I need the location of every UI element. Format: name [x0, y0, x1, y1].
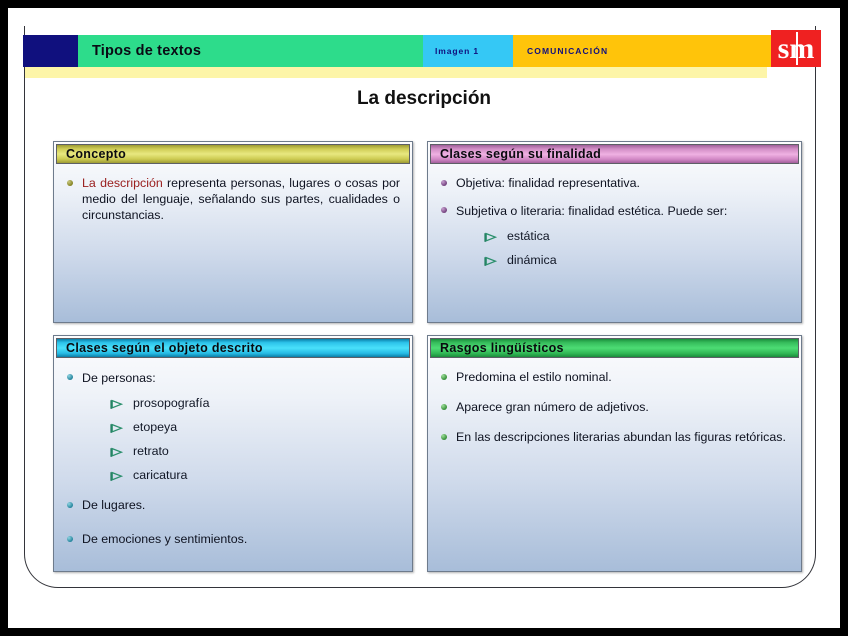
sub-list-item: caricatura — [110, 468, 400, 483]
panel-concepto-body: La descripción representa personas, luga… — [54, 164, 412, 231]
sub-list-item: etopeya — [110, 420, 400, 435]
header-yellow-strip — [25, 67, 767, 78]
bullet-dot-icon — [67, 180, 73, 186]
arrow-flag-icon — [110, 471, 123, 482]
sm-logo-divider — [796, 32, 798, 65]
list-item: Subjetiva o literaria: finalidad estétic… — [438, 202, 789, 270]
panel-clases-finalidad-heading: Clases según su finalidad — [430, 144, 799, 164]
sub-list-item-text: caricatura — [133, 468, 187, 483]
list-item: En las descripciones literarias abundan … — [438, 429, 789, 445]
sub-list-item-text: retrato — [133, 444, 169, 459]
bullet-dot-icon — [441, 180, 447, 186]
panel-clases-finalidad: Clases según su finalidad Objetiva: fina… — [427, 141, 802, 323]
panel-rasgos-body: Predomina el estilo nominal. Aparece gra… — [428, 358, 801, 453]
list-item: Predomina el estilo nominal. — [438, 369, 789, 385]
sub-list-item-text: estática — [507, 229, 550, 244]
list-item-text: En las descripciones literarias abundan … — [456, 429, 789, 445]
bullet-dot-icon — [67, 536, 73, 542]
sub-list-item-text: etopeya — [133, 420, 177, 435]
list-item: Aparece gran número de adjetivos. — [438, 399, 789, 415]
sub-list-item-text: dinámica — [507, 253, 557, 268]
sub-list-item: retrato — [110, 444, 400, 459]
arrow-flag-icon — [110, 399, 123, 410]
bullet-dot-icon — [441, 207, 447, 213]
header-subject-label: COMUNICACIÓN — [513, 35, 771, 67]
bullet-dot-icon — [441, 434, 447, 440]
slide-header-bar: Tipos de textos Imagen 1 COMUNICACIÓN sm — [23, 35, 821, 67]
list-item-text: Subjetiva o literaria: finalidad estétic… — [456, 204, 727, 218]
list-item-text: Predomina el estilo nominal. — [456, 369, 789, 385]
header-section-title: Tipos de textos — [78, 35, 423, 67]
sm-logo: sm — [771, 30, 821, 67]
sub-list: estática dinámica — [484, 229, 789, 268]
panel-clases-finalidad-body: Objetiva: finalidad representativa. Subj… — [428, 164, 801, 278]
header-image-label: Imagen 1 — [423, 35, 513, 67]
list-item: La descripción representa personas, luga… — [64, 175, 400, 223]
header-navy-block — [23, 35, 78, 67]
panel-clases-objeto-heading: Clases según el objeto descrito — [56, 338, 410, 358]
list-item: Objetiva: finalidad representativa. — [438, 175, 789, 191]
list-item-text: De lugares. — [82, 497, 400, 513]
panel-concepto: Concepto La descripción representa perso… — [53, 141, 413, 323]
bullet-dot-icon — [67, 502, 73, 508]
list-item-lead: La descripción — [82, 176, 163, 190]
slide-canvas: Tipos de textos Imagen 1 COMUNICACIÓN sm… — [8, 8, 840, 628]
arrow-flag-icon — [110, 423, 123, 434]
arrow-flag-icon — [484, 232, 497, 243]
arrow-flag-icon — [110, 447, 123, 458]
bullet-dot-icon — [441, 374, 447, 380]
panel-clases-objeto: Clases según el objeto descrito De perso… — [53, 335, 413, 572]
list-item-text: Aparece gran número de adjetivos. — [456, 399, 789, 415]
list-item-text: La descripción representa personas, luga… — [82, 175, 400, 223]
panel-clases-objeto-body: De personas: prosopografía — [54, 358, 412, 555]
list-item: De personas: prosopografía — [64, 369, 400, 485]
image-label-text: Imagen 1 — [435, 46, 479, 56]
sub-list-item: dinámica — [484, 253, 789, 268]
sub-list-item: estática — [484, 229, 789, 244]
panel-rasgos-linguisticos: Rasgos lingüísticos Predomina el estilo … — [427, 335, 802, 572]
sub-list-item-text: prosopografía — [133, 396, 209, 411]
bullet-dot-icon — [441, 404, 447, 410]
list-item-text: De personas: — [82, 371, 156, 385]
panel-rasgos-heading: Rasgos lingüísticos — [430, 338, 799, 358]
page-title: La descripción — [8, 88, 840, 110]
panel-concepto-heading: Concepto — [56, 144, 410, 164]
list-item: De emociones y sentimientos. — [64, 531, 400, 547]
arrow-flag-icon — [484, 256, 497, 267]
sub-list-item: prosopografía — [110, 396, 400, 411]
subject-label-text: COMUNICACIÓN — [527, 46, 608, 56]
list-item: De lugares. — [64, 497, 400, 513]
sub-list: prosopografía etopeya — [110, 396, 400, 483]
bullet-dot-icon — [67, 374, 73, 380]
section-title-text: Tipos de textos — [92, 43, 201, 59]
list-item-text: De emociones y sentimientos. — [82, 531, 400, 547]
list-item-text: Objetiva: finalidad representativa. — [456, 175, 789, 191]
